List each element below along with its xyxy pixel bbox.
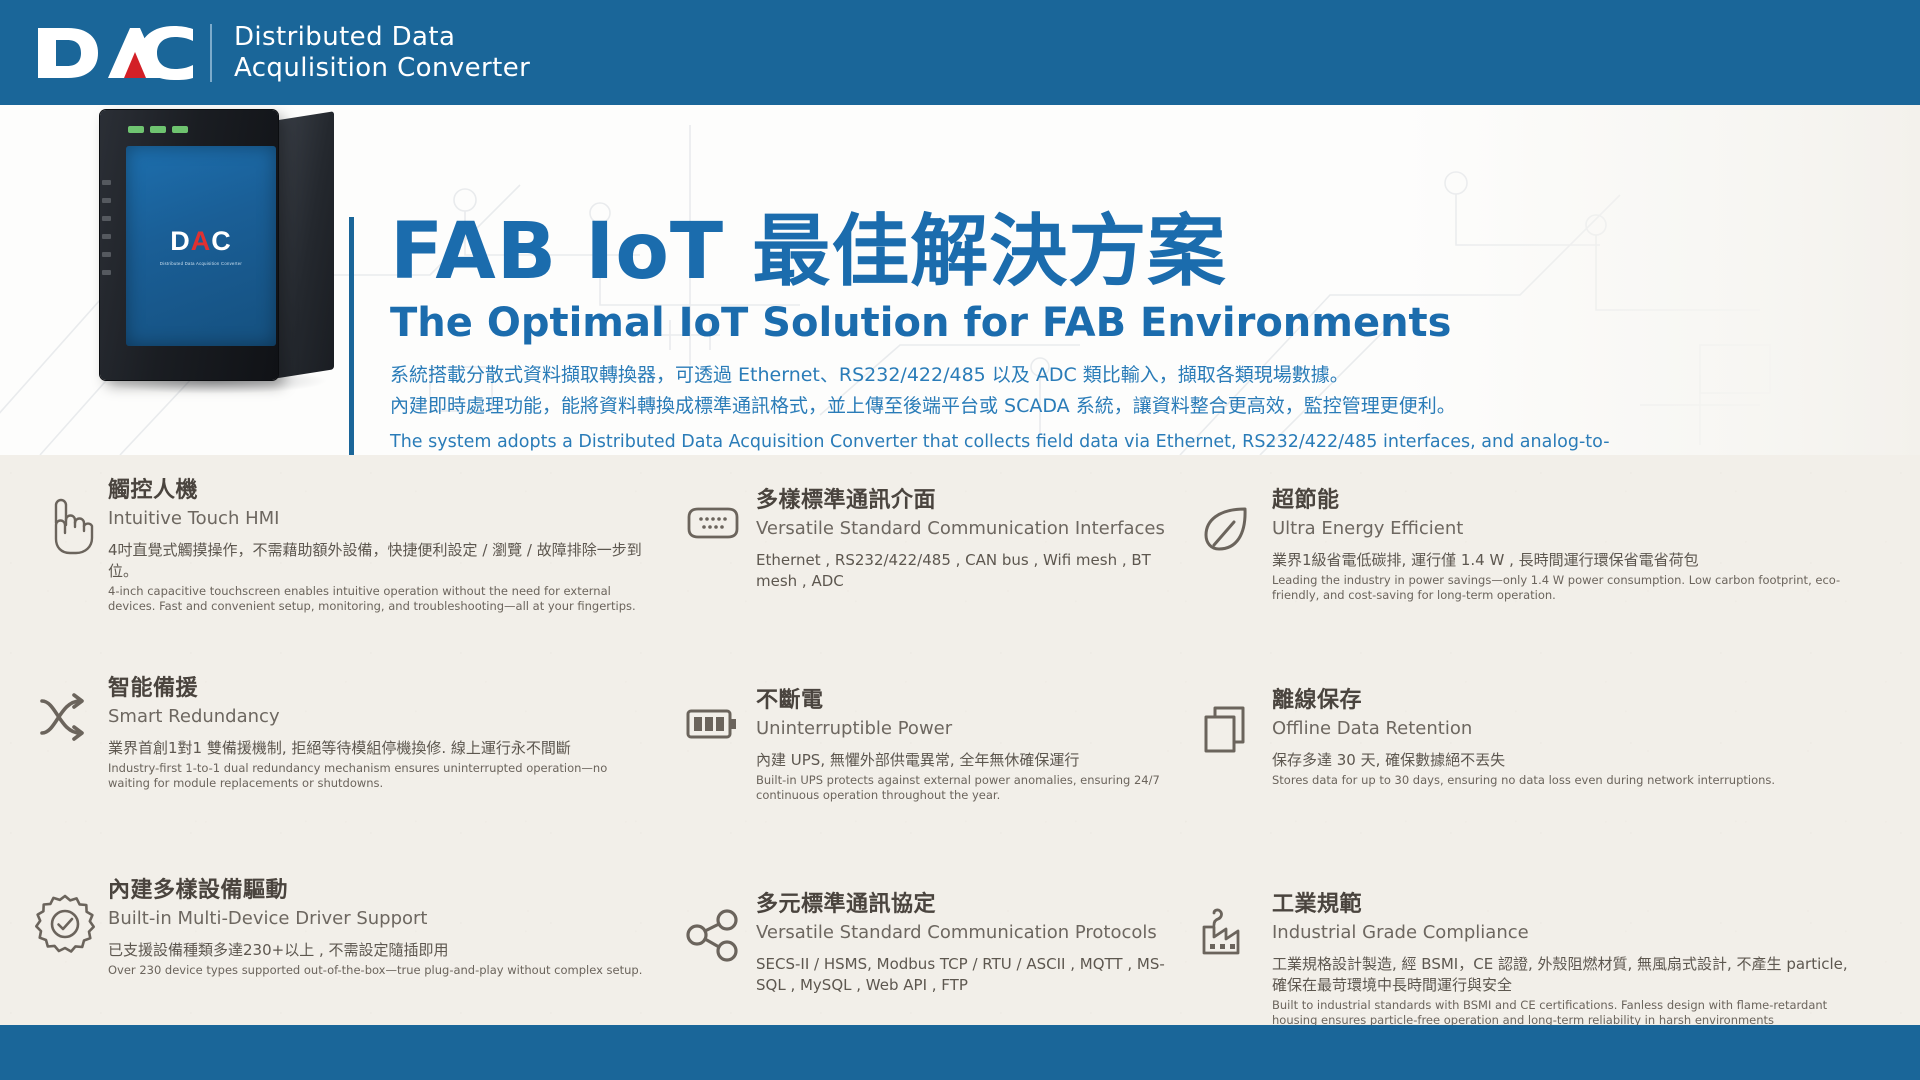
feature-card: 離線保存 Offline Data Retention 保存多達 30 天, 確… — [1180, 665, 1880, 865]
feature-text: 工業規範 Industrial Grade Compliance 工業規格設計製… — [1272, 891, 1880, 1027]
feature-zh-body: 內建 UPS, 無懼外部供電異常, 全年無休確保運行 — [756, 750, 1170, 771]
company-name-line1: Distributed Data — [234, 22, 530, 53]
feature-card: 超節能 Ultra Energy Efficient 業界1級省電低碳排, 運行… — [1180, 475, 1880, 665]
feature-text: 不斷電 Uninterruptible Power 內建 UPS, 無懼外部供電… — [756, 687, 1180, 802]
brand-lockup[interactable]: Distributed Data Acqulisition Converter — [36, 22, 530, 84]
device-screen: DAC Distributed Data Acquisition Convert… — [126, 146, 276, 346]
site-footer — [0, 1025, 1920, 1080]
feature-text: 離線保存 Offline Data Retention 保存多達 30 天, 確… — [1272, 687, 1880, 788]
touch-hand-icon — [22, 477, 108, 555]
battery-ups-icon — [670, 687, 756, 743]
hero-zh-line-2: 內建即時處理功能，能將資料轉換成標準通訊格式，並上傳至後端平台或 SCADA 系… — [390, 391, 1820, 422]
feature-en-body: Leading the industry in power savings—on… — [1272, 573, 1862, 602]
device-port-strip — [102, 180, 111, 275]
feature-text: 智能備援 Smart Redundancy 業界首創1對1 雙備援機制, 拒絕等… — [108, 675, 670, 790]
device-side-panel — [274, 111, 334, 379]
feature-zh-title: 離線保存 — [1272, 687, 1862, 715]
feature-zh-title: 多樣標準通訊介面 — [756, 487, 1170, 515]
feature-zh-title: 不斷電 — [756, 687, 1170, 715]
feature-text: 多樣標準通訊介面 Versatile Standard Communicatio… — [756, 487, 1180, 594]
gear-check-icon — [22, 877, 108, 955]
feature-text: 內建多樣設備驅動 Built-in Multi-Device Driver Su… — [108, 877, 670, 978]
feature-card: 觸控人機 Intuitive Touch HMI 4吋直覺式觸摸操作，不需藉助額… — [22, 475, 670, 655]
feature-en-title: Intuitive Touch HMI — [108, 506, 652, 531]
feature-zh-body: 已支援設備種類多達230+以上 , 不需設定隨插即用 — [108, 940, 652, 961]
hero-english-description: The system adopts a Distributed Data Acq… — [390, 430, 1610, 455]
page-subtitle: The Optimal IoT Solution for FAB Environ… — [390, 298, 1820, 348]
feature-card: 智能備援 Smart Redundancy 業界首創1對1 雙備援機制, 拒絕等… — [22, 655, 670, 853]
feature-card: 多樣標準通訊介面 Versatile Standard Communicatio… — [670, 475, 1180, 665]
feature-zh-title: 智能備援 — [108, 675, 652, 703]
device-screen-subtitle: Distributed Data Acquisition Converter — [160, 261, 242, 266]
feature-en-title: Versatile Standard Communication Protoco… — [756, 920, 1170, 945]
feature-en-body: Industry-first 1-to-1 dual redundancy me… — [108, 761, 652, 790]
features-column-3: 超節能 Ultra Energy Efficient 業界1級省電低碳排, 運行… — [1180, 475, 1880, 1069]
hero-copy: FAB IoT 最佳解決方案 The Optimal IoT Solution … — [390, 210, 1820, 455]
factory-icon — [1180, 891, 1272, 959]
device-screen-logo: DAC — [170, 226, 232, 257]
feature-zh-title: 多元標準通訊協定 — [756, 891, 1170, 919]
feature-en-title: Built-in Multi-Device Driver Support — [108, 906, 652, 931]
leaf-icon — [1180, 487, 1272, 555]
feature-zh-body: 業界首創1對1 雙備援機制, 拒絕等待模組停機換修. 線上運行永不間斷 — [108, 738, 652, 759]
feature-zh-body: 4吋直覺式觸摸操作，不需藉助額外設備，快捷便利設定 / 瀏覽 / 故障排除一步到… — [108, 540, 652, 582]
share-nodes-icon — [670, 891, 756, 963]
feature-en-title: Offline Data Retention — [1272, 716, 1862, 741]
feature-en-body: Over 230 device types supported out-of-t… — [108, 963, 652, 978]
feature-en-title: Versatile Standard Communication Interfa… — [756, 516, 1170, 541]
feature-zh-body: Ethernet , RS232/422/485 , CAN bus , Wif… — [756, 550, 1170, 592]
dsub-connector-icon — [670, 487, 756, 543]
feature-zh-body: SECS-II / HSMS, Modbus TCP / RTU / ASCII… — [756, 954, 1170, 996]
feature-zh-body: 保存多達 30 天, 確保數據絕不丟失 — [1272, 750, 1862, 771]
feature-en-body: Stores data for up to 30 days, ensuring … — [1272, 773, 1862, 788]
feature-text: 超節能 Ultra Energy Efficient 業界1級省電低碳排, 運行… — [1272, 487, 1880, 602]
features-column-1: 觸控人機 Intuitive Touch HMI 4吋直覺式觸摸操作，不需藉助額… — [22, 475, 670, 1069]
shuffle-redundancy-icon — [22, 675, 108, 743]
dac-logo-icon — [36, 22, 196, 84]
feature-en-body: Built to industrial standards with BSMI … — [1272, 998, 1862, 1027]
hero-chinese-description: 系統搭載分散式資料擷取轉換器，可透過 Ethernet、RS232/422/48… — [390, 360, 1820, 422]
feature-text: 觸控人機 Intuitive Touch HMI 4吋直覺式觸摸操作，不需藉助額… — [108, 477, 670, 613]
copy-documents-icon — [1180, 687, 1272, 755]
feature-card: 不斷電 Uninterruptible Power 內建 UPS, 無懼外部供電… — [670, 665, 1180, 865]
hero-section: DAC Distributed Data Acquisition Convert… — [0, 105, 1920, 455]
device-led-strip — [128, 126, 188, 133]
feature-zh-title: 超節能 — [1272, 487, 1862, 515]
feature-en-title: Industrial Grade Compliance — [1272, 920, 1862, 945]
feature-zh-title: 內建多樣設備驅動 — [108, 877, 652, 905]
feature-text: 多元標準通訊協定 Versatile Standard Communicatio… — [756, 891, 1180, 998]
features-column-2: 多樣標準通訊介面 Versatile Standard Communicatio… — [670, 475, 1180, 1069]
features-section: 觸控人機 Intuitive Touch HMI 4吋直覺式觸摸操作，不需藉助額… — [0, 455, 1920, 1030]
product-photo: DAC Distributed Data Acquisition Convert… — [88, 105, 348, 445]
company-name-line2: Acqulisition Converter — [234, 53, 530, 84]
feature-zh-body: 業界1級省電低碳排, 運行僅 1.4 W , 長時間運行環保省電省荷包 — [1272, 550, 1862, 571]
hero-zh-line-1: 系統搭載分散式資料擷取轉換器，可透過 Ethernet、RS232/422/48… — [390, 360, 1820, 391]
company-name: Distributed Data Acqulisition Converter — [234, 22, 530, 84]
feature-en-title: Uninterruptible Power — [756, 716, 1170, 741]
feature-en-title: Ultra Energy Efficient — [1272, 516, 1862, 541]
feature-en-title: Smart Redundancy — [108, 704, 652, 729]
brand-divider — [210, 24, 212, 82]
hero-accent-rule — [349, 217, 354, 455]
feature-zh-body: 工業規格設計製造, 經 BSMI，CE 認證, 外殼阻燃材質, 無風扇式設計, … — [1272, 954, 1862, 996]
site-header: Distributed Data Acqulisition Converter — [0, 0, 1920, 105]
device-body: DAC Distributed Data Acquisition Convert… — [100, 110, 278, 380]
features-grid: 觸控人機 Intuitive Touch HMI 4吋直覺式觸摸操作，不需藉助額… — [0, 455, 1920, 1069]
page-title: FAB IoT 最佳解決方案 — [390, 210, 1820, 294]
poster-page: Distributed Data Acqulisition Converter — [0, 0, 1920, 1080]
feature-en-body: Built-in UPS protects against external p… — [756, 773, 1170, 802]
feature-en-body: 4-inch capacitive touchscreen enables in… — [108, 584, 652, 613]
feature-zh-title: 工業規範 — [1272, 891, 1862, 919]
feature-zh-title: 觸控人機 — [108, 477, 652, 505]
